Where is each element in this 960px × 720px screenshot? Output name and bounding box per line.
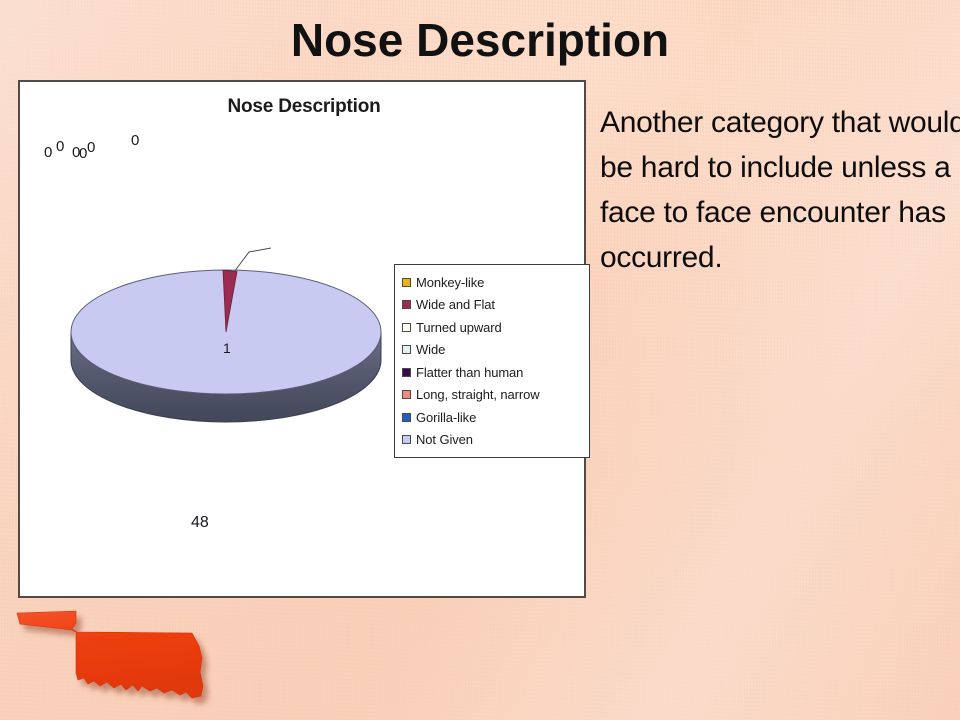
- chart-container: Nose Description 0 0 0 0 0 0 1 48: [18, 80, 586, 598]
- legend-swatch-icon: [402, 368, 411, 377]
- legend-item-label: Gorilla-like: [416, 410, 476, 425]
- legend-swatch-icon: [402, 390, 411, 399]
- legend-swatch-icon: [402, 435, 411, 444]
- legend-swatch-icon: [402, 300, 411, 309]
- legend-swatch-icon: [402, 345, 411, 354]
- legend-item-monkey-like[interactable]: Monkey-like: [402, 271, 585, 294]
- pie-data-label-zero-leader: 0: [131, 132, 139, 149]
- pie-data-label-zero: 0: [56, 138, 64, 155]
- legend-item-label: Turned upward: [416, 320, 502, 335]
- pie-label-leader-line: [234, 248, 271, 272]
- pie-data-label-zero: 0: [87, 139, 95, 156]
- legend-item-not-given[interactable]: Not Given: [402, 429, 585, 452]
- slide-body-text: Another category that would be hard to i…: [600, 100, 960, 280]
- oklahoma-state-silhouette-icon: [14, 602, 244, 712]
- legend-swatch-icon: [402, 278, 411, 287]
- legend-item-turned-upward[interactable]: Turned upward: [402, 316, 585, 339]
- pie-data-label-zero: 0: [44, 144, 52, 161]
- legend-item-long-straight-narrow[interactable]: Long, straight, narrow: [402, 384, 585, 407]
- legend-swatch-icon: [402, 323, 411, 332]
- pie-chart-graphic: [66, 242, 386, 497]
- chart-legend: Monkey-like Wide and Flat Turned upward …: [394, 264, 590, 458]
- legend-item-wide-and-flat[interactable]: Wide and Flat: [402, 294, 585, 317]
- pie-data-label-one: 1: [223, 340, 231, 356]
- pie-data-label-48: 48: [191, 514, 209, 532]
- legend-item-label: Flatter than human: [416, 365, 523, 380]
- legend-item-flatter-than-human[interactable]: Flatter than human: [402, 361, 585, 384]
- legend-item-label: Long, straight, narrow: [416, 387, 540, 402]
- legend-item-wide[interactable]: Wide: [402, 339, 585, 362]
- legend-item-label: Wide and Flat: [416, 297, 495, 312]
- legend-item-label: Wide: [416, 342, 445, 357]
- chart-title: Nose Description: [20, 96, 588, 118]
- legend-item-label: Monkey-like: [416, 275, 484, 290]
- page-title: Nose Description: [0, 14, 960, 66]
- legend-item-gorilla-like[interactable]: Gorilla-like: [402, 406, 585, 429]
- legend-item-label: Not Given: [416, 432, 473, 447]
- legend-swatch-icon: [402, 413, 411, 422]
